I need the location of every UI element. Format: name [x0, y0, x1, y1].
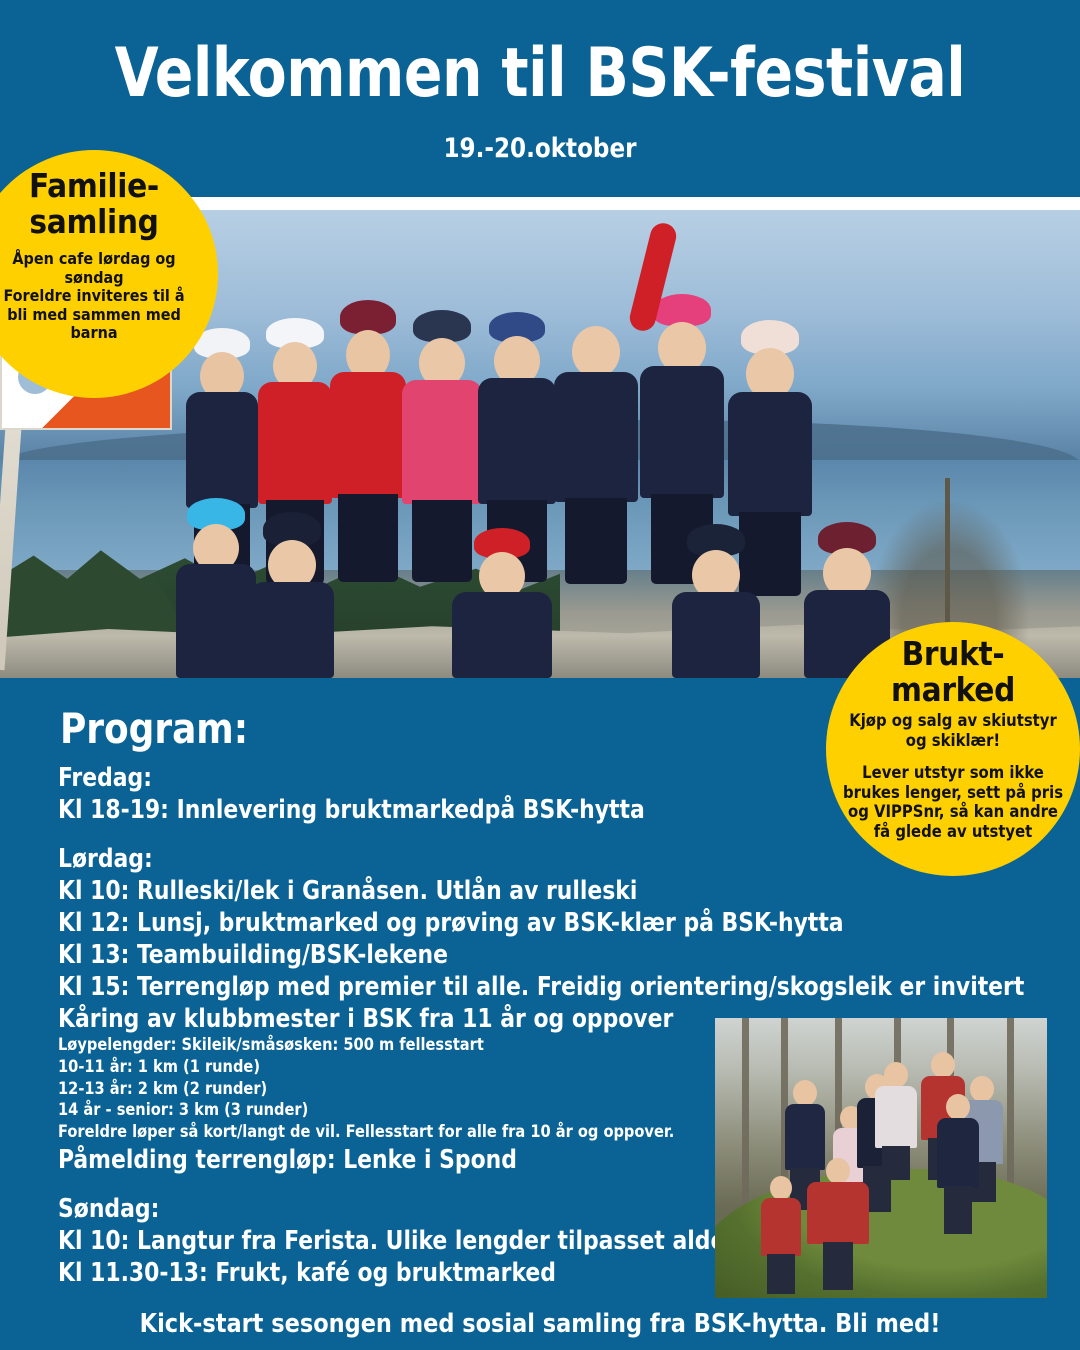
photo-tree-trunk [1007, 1018, 1014, 1186]
badge-right-title: Brukt- marked [826, 636, 1080, 707]
program-item: Kl 12: Lunsj, bruktmarked og prøving av … [58, 907, 1013, 939]
badge-right-body2-line1: Lever utstyr som ikke [836, 763, 1070, 782]
badge-right-body2-line3: og VIPPSnr, så kan andre [836, 802, 1070, 821]
footer-text: Kick-start sesongen med sosial samling f… [140, 1298, 941, 1350]
program-day-label-saturday: Lørdag: [58, 843, 1013, 875]
badge-right-body2-line2: brukes lenger, sett på pris [836, 783, 1070, 802]
event-dates: 19.-20.oktober [27, 133, 1053, 164]
photo-person [554, 306, 638, 584]
program-item: Kl 15: Terrengløp med premier til alle. … [58, 971, 1013, 1003]
secondary-group-photo [715, 1018, 1047, 1298]
photo-person [250, 514, 334, 678]
badge-right-body-line2: og skiklær! [840, 731, 1066, 750]
page-title: Velkommen til BSK-festival [38, 34, 1042, 113]
photo-tree-trunk [742, 1018, 749, 1228]
badge-right-body: Kjøp og salg av skiutstyr og skiklær! [826, 711, 1080, 750]
photo-person [807, 1158, 869, 1290]
photo-person [761, 1176, 801, 1294]
badge-left-body-line5: barna [0, 324, 192, 343]
badge-left-body-line2: søndag [0, 269, 192, 288]
badge-left-title-line1: Familie- [0, 168, 218, 204]
poster-footer: Kick-start sesongen med sosial samling f… [0, 1298, 1080, 1350]
badge-left-body: Åpen cafe lørdag og søndag Foreldre invi… [0, 250, 218, 343]
badge-left-title-line2: samling [0, 204, 218, 240]
badge-left-title: Familie- samling [0, 168, 218, 239]
badge-right-body2-line4: få glede av utstyet [836, 822, 1070, 841]
program-item: Kl 10: Rulleski/lek i Granåsen. Utlån av… [58, 875, 1013, 907]
badge-right-body-secondary: Lever utstyr som ikke brukes lenger, set… [826, 763, 1080, 841]
badge-left-body-line3: Foreldre inviteres til å [0, 287, 192, 306]
photo-person [672, 526, 760, 678]
badge-right-title-line1: Brukt- [826, 636, 1080, 672]
photo-person [452, 530, 552, 678]
photo-person [875, 1062, 917, 1180]
poster-root: Velkommen til BSK-festival 19.-20.oktobe… [0, 0, 1080, 1350]
badge-right-title-line2: marked [826, 672, 1080, 708]
photo-person [330, 306, 406, 582]
badge-right-body-line1: Kjøp og salg av skiutstyr [840, 711, 1066, 730]
badge-left-body-line4: bli med sammen med [0, 306, 192, 325]
badge-used-market: Brukt- marked Kjøp og salg av skiutstyr … [826, 622, 1080, 876]
program-item: Kl 13: Teambuilding/BSK-lekene [58, 939, 1013, 971]
photo-person [176, 500, 256, 678]
photo-person [937, 1094, 979, 1234]
program-heading: Program: [60, 704, 248, 753]
badge-left-body-line1: Åpen cafe lørdag og [0, 250, 192, 269]
